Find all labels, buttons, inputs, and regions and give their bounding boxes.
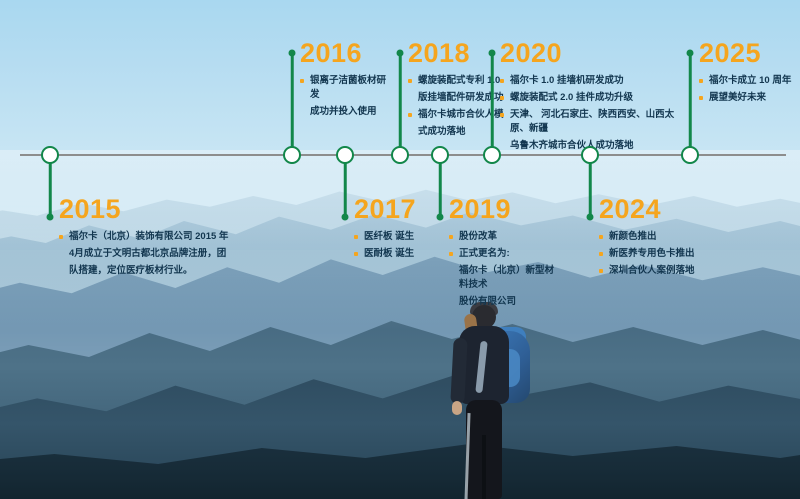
bullet-item: 深圳合伙人案例落地 [599, 264, 719, 278]
timeline-node-2016[interactable] [283, 146, 301, 164]
bullet-item: 福尔卡（北京）新型材料技术 [449, 264, 557, 292]
stem-2018 [399, 53, 402, 155]
timeline-node-2018[interactable] [391, 146, 409, 164]
bullet-item: 展望美好未来 [699, 91, 797, 105]
year-label-2015: 2015 [59, 196, 234, 223]
bullet-item: 成功并投入使用 [300, 105, 395, 119]
bullet-item: 螺旋装配式 2.0 挂件成功升级 [500, 91, 690, 105]
bullet-list-2017: 医纤板 诞生 医耐板 诞生 [354, 230, 444, 261]
bullet-item: 新医养专用色卡推出 [599, 247, 719, 261]
bullet-list-2024: 新颜色推出 新医养专用色卡推出 深圳合伙人案例落地 [599, 230, 719, 278]
hiker-figure [432, 305, 552, 499]
stem-dot-2020 [489, 50, 496, 57]
bullet-list-2016: 银离子洁菌板材研发 成功并投入使用 [300, 74, 395, 119]
entry-2017[interactable]: 2017 医纤板 诞生 医耐板 诞生 [354, 196, 444, 264]
hiker-hand [452, 401, 462, 415]
bullet-list-2020: 福尔卡 1.0 挂墙机研发成功 螺旋装配式 2.0 挂件成功升级 天津、 河北石… [500, 74, 690, 153]
bullet-item: 股份改革 [449, 230, 557, 244]
bullet-item: 4月成立于文明古都北京品牌注册，团 [59, 247, 234, 261]
entry-2020[interactable]: 2020 福尔卡 1.0 挂墙机研发成功 螺旋装配式 2.0 挂件成功升级 天津… [500, 40, 690, 156]
bullet-item: 福尔卡（北京）装饰有限公司 2015 年 [59, 230, 234, 244]
entry-2015[interactable]: 2015 福尔卡（北京）装饰有限公司 2015 年 4月成立于文明古都北京品牌注… [59, 196, 234, 281]
stem-2017 [344, 155, 347, 217]
timeline-infographic: 2015 福尔卡（北京）装饰有限公司 2015 年 4月成立于文明古都北京品牌注… [0, 0, 800, 499]
year-label-2024: 2024 [599, 196, 719, 223]
year-label-2019: 2019 [449, 196, 557, 223]
year-label-2017: 2017 [354, 196, 444, 223]
hiker-leg-gap [482, 435, 486, 499]
stem-dot-2018 [397, 50, 404, 57]
bullet-item: 正式更名为: [449, 247, 557, 261]
bullet-item: 福尔卡成立 10 周年 [699, 74, 797, 88]
stem-dot-2019 [437, 214, 444, 221]
stem-dot-2024 [587, 214, 594, 221]
bullet-list-2019: 股份改革 正式更名为: 福尔卡（北京）新型材料技术 股份有限公司 [449, 230, 557, 309]
bullet-item: 福尔卡 1.0 挂墙机研发成功 [500, 74, 690, 88]
bullet-item: 银离子洁菌板材研发 [300, 74, 395, 102]
timeline-node-2019[interactable] [431, 146, 449, 164]
bullet-item: 队搭建，定位医疗板材行业。 [59, 264, 234, 278]
stem-2016 [291, 53, 294, 155]
timeline-node-2024[interactable] [581, 146, 599, 164]
entry-2025[interactable]: 2025 福尔卡成立 10 周年 展望美好未来 [699, 40, 797, 108]
year-label-2025: 2025 [699, 40, 797, 67]
bullet-list-2015: 福尔卡（北京）装饰有限公司 2015 年 4月成立于文明古都北京品牌注册，团 队… [59, 230, 234, 278]
bullet-item: 医耐板 诞生 [354, 247, 444, 261]
stem-2015 [49, 155, 52, 217]
stem-2024 [589, 155, 592, 217]
timeline-node-2017[interactable] [336, 146, 354, 164]
stem-2019 [439, 155, 442, 217]
year-label-2016: 2016 [300, 40, 395, 67]
stem-dot-2017 [342, 214, 349, 221]
entry-2024[interactable]: 2024 新颜色推出 新医养专用色卡推出 深圳合伙人案例落地 [599, 196, 719, 281]
bullet-item: 股份有限公司 [449, 295, 557, 309]
bullet-item: 天津、 河北石家庄、陕西西安、山西太原、新疆 [500, 108, 690, 136]
stem-dot-2016 [289, 50, 296, 57]
bullet-item: 医纤板 诞生 [354, 230, 444, 244]
timeline-node-2025[interactable] [681, 146, 699, 164]
stem-dot-2015 [47, 214, 54, 221]
stem-dot-2025 [687, 50, 694, 57]
stem-2025 [689, 53, 692, 155]
timeline-node-2015[interactable] [41, 146, 59, 164]
entry-2019[interactable]: 2019 股份改革 正式更名为: 福尔卡（北京）新型材料技术 股份有限公司 [449, 196, 557, 312]
bullet-list-2025: 福尔卡成立 10 周年 展望美好未来 [699, 74, 797, 105]
entry-2016[interactable]: 2016 银离子洁菌板材研发 成功并投入使用 [300, 40, 395, 122]
bullet-item: 新颜色推出 [599, 230, 719, 244]
stem-2020 [491, 53, 494, 155]
year-label-2020: 2020 [500, 40, 690, 67]
timeline-node-2020[interactable] [483, 146, 501, 164]
